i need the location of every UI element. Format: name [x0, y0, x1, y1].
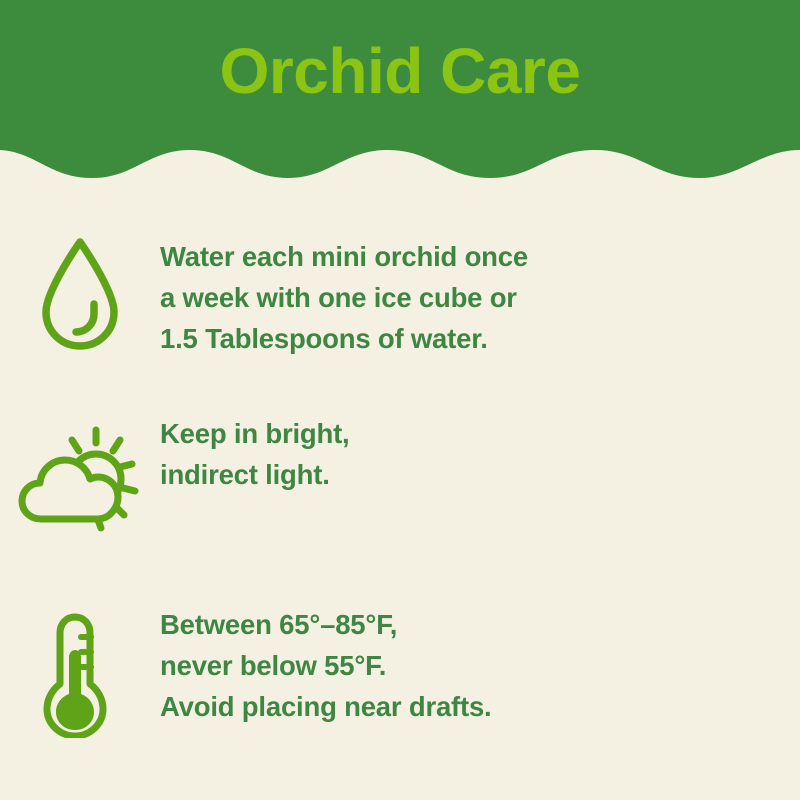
- water-drop-icon: [0, 230, 160, 360]
- tip-text-temperature: Between 65°–85°F, never below 55°F. Avoi…: [160, 598, 492, 727]
- tip-row-light: Keep in bright, indirect light.: [0, 407, 800, 535]
- page-title: Orchid Care: [0, 33, 800, 109]
- tip-row-watering: Water each mini orchid once a week with …: [0, 230, 800, 360]
- sun-behind-cloud-icon: [0, 407, 160, 535]
- tip-row-temperature: Between 65°–85°F, never below 55°F. Avoi…: [0, 598, 800, 738]
- thermometer-icon: [0, 598, 160, 738]
- cloud-icon: [22, 460, 118, 519]
- tip-text-watering: Water each mini orchid once a week with …: [160, 230, 528, 359]
- tip-text-light: Keep in bright, indirect light.: [160, 407, 350, 495]
- header-banner: Orchid Care: [0, 0, 800, 185]
- orchid-care-card: Orchid Care Water each mini orchid once …: [0, 0, 800, 800]
